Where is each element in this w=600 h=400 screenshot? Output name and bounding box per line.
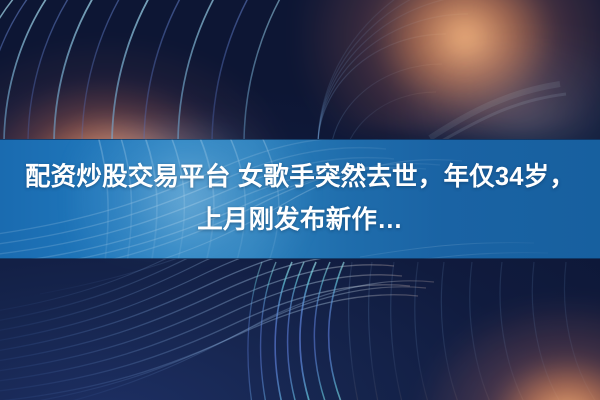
headline-band: 配资炒股交易平台 女歌手突然去世，年仅34岁， 上月刚发布新作… bbox=[0, 139, 600, 259]
banner-image: 配资炒股交易平台 女歌手突然去世，年仅34岁， 上月刚发布新作… bbox=[0, 0, 600, 400]
band-edge-top-divider bbox=[0, 139, 600, 140]
headline-text: 配资炒股交易平台 女歌手突然去世，年仅34岁， 上月刚发布新作… bbox=[0, 139, 600, 259]
band-edge-bottom-divider bbox=[0, 258, 600, 259]
top-right-light-streak-icon bbox=[430, 84, 566, 142]
headline-line-2: 上月刚发布新作… bbox=[197, 199, 403, 242]
top-left-arc-fan-icon bbox=[0, 0, 500, 145]
bottom-right-ripple-lines-icon bbox=[349, 262, 596, 400]
bottom-cyan-curves-icon bbox=[248, 262, 344, 400]
headline-line-1: 配资炒股交易平台 女歌手突然去世，年仅34岁， bbox=[25, 156, 575, 199]
